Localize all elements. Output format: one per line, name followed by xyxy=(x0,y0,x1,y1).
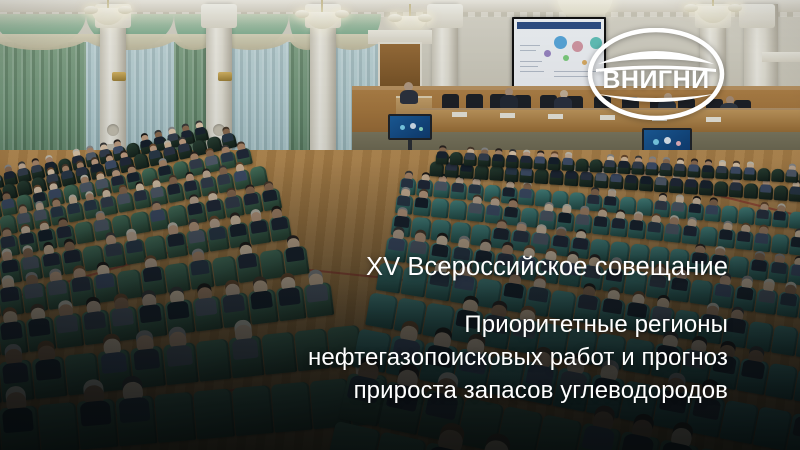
audience-torso xyxy=(771,262,787,275)
audience-seat xyxy=(477,153,491,167)
audience-seat xyxy=(463,152,477,166)
audience-torso xyxy=(154,136,165,145)
audience-seat xyxy=(681,224,700,245)
audience-torso xyxy=(612,218,626,229)
audience-seat xyxy=(765,363,798,400)
audience-torso xyxy=(184,180,198,192)
audience-seat xyxy=(38,402,80,450)
audience-torso xyxy=(206,199,222,212)
audience-seat xyxy=(687,164,701,178)
audience-seat xyxy=(701,165,715,179)
audience-seat xyxy=(771,325,799,356)
audience-seat xyxy=(186,201,207,225)
audience-torso xyxy=(533,232,549,245)
audience-torso xyxy=(633,161,643,169)
audience-seat xyxy=(248,218,272,245)
audience-torso xyxy=(243,192,259,205)
audience-torso xyxy=(163,146,176,156)
audience-seat xyxy=(757,168,771,182)
audience-seat xyxy=(788,186,800,202)
audience-torso xyxy=(150,209,166,222)
audience-torso xyxy=(736,286,754,300)
audience-seat xyxy=(669,178,684,194)
audience-torso xyxy=(519,188,532,198)
audience-torso xyxy=(117,193,131,205)
audience-torso xyxy=(716,166,726,174)
audience-torso xyxy=(756,209,769,219)
audience-seat xyxy=(519,155,533,169)
audience-torso xyxy=(685,179,697,188)
audience-torso xyxy=(594,216,608,227)
audience-torso xyxy=(647,162,657,170)
audience-torso xyxy=(31,164,42,173)
audience-torso xyxy=(220,152,234,163)
audience-torso xyxy=(580,172,592,181)
audience-torso xyxy=(726,317,747,334)
audience-torso xyxy=(540,210,554,221)
audience-seat xyxy=(673,163,687,177)
audience-torso xyxy=(493,154,503,162)
audience-seat xyxy=(206,225,230,252)
audience-torso xyxy=(479,153,489,161)
audience-torso xyxy=(493,228,509,241)
audience-seat xyxy=(684,179,699,195)
audience-seat xyxy=(518,187,535,205)
audience-torso xyxy=(507,155,517,163)
audience-seat xyxy=(610,217,629,238)
audience-torso xyxy=(217,173,231,185)
audience-torso xyxy=(83,199,97,211)
audience-seat xyxy=(149,207,170,231)
audience-torso xyxy=(24,283,44,299)
audience-seat xyxy=(755,208,772,226)
audience-seat xyxy=(789,211,800,229)
audience-torso xyxy=(90,163,103,173)
audience-seat xyxy=(450,152,464,166)
audience-torso xyxy=(604,196,617,206)
audience-torso xyxy=(549,157,559,165)
audience-seat xyxy=(467,202,486,223)
audience-seat xyxy=(166,181,185,203)
audience-torso xyxy=(48,188,62,199)
audience-seat xyxy=(789,235,800,256)
audience-seat xyxy=(74,221,95,245)
audience-torso xyxy=(401,178,414,188)
audience-torso xyxy=(689,203,702,213)
audience-torso xyxy=(50,206,64,218)
audience-torso xyxy=(262,189,278,202)
audience-torso xyxy=(553,235,569,248)
audience-seat xyxy=(729,182,744,198)
audience-seat xyxy=(242,191,263,215)
audience-seat xyxy=(659,163,673,177)
audience-torso xyxy=(19,232,35,245)
audience-torso xyxy=(558,212,572,223)
audience-torso xyxy=(791,264,800,277)
audience-torso xyxy=(167,183,181,195)
audience-torso xyxy=(700,180,712,189)
audience-seat xyxy=(167,204,188,228)
audience-torso xyxy=(655,200,668,210)
audience-seat xyxy=(450,181,467,199)
audience-torso xyxy=(0,174,1,183)
vnigni-logo: ВНИГНИ xyxy=(586,28,726,120)
audience-seat xyxy=(774,185,789,201)
audience-seat xyxy=(575,158,589,172)
audience-torso xyxy=(100,196,114,208)
audience-seat xyxy=(269,215,293,242)
audience-seat xyxy=(579,171,594,187)
audience-torso xyxy=(0,286,20,302)
audience-torso xyxy=(250,220,268,234)
audience-torso xyxy=(67,202,81,214)
audience-seat xyxy=(728,256,749,279)
audience-seat xyxy=(431,198,450,219)
audience-torso xyxy=(236,148,250,159)
audience-seat xyxy=(639,176,654,192)
audience-seat xyxy=(771,234,790,255)
audience-torso xyxy=(790,186,800,195)
audience-seat xyxy=(491,154,505,168)
audience-seat xyxy=(645,162,659,176)
audience-torso xyxy=(715,283,733,297)
audience-seat xyxy=(746,321,774,352)
audience-torso xyxy=(187,202,203,215)
audience-seat xyxy=(261,188,282,212)
audience-torso xyxy=(37,229,53,242)
audience-torso xyxy=(503,282,524,299)
audience-torso xyxy=(755,233,769,244)
audience-torso xyxy=(640,176,652,185)
audience-torso xyxy=(167,233,185,247)
audience-torso xyxy=(683,225,697,236)
subtitle-line-1: Приоритетные регионы xyxy=(0,308,728,341)
audience-torso xyxy=(200,177,214,189)
audience-torso xyxy=(744,167,754,175)
audience-torso xyxy=(208,226,226,240)
audience-seat xyxy=(733,285,757,312)
audience-torso xyxy=(465,153,475,161)
audience-seat xyxy=(489,165,504,181)
audience-torso xyxy=(79,181,93,192)
audience-torso xyxy=(33,209,47,221)
audience-torso xyxy=(105,159,118,169)
audience-torso xyxy=(181,130,192,139)
audience-torso xyxy=(773,211,786,221)
audience-torso xyxy=(61,170,74,180)
audience-torso xyxy=(56,225,72,238)
audience-torso xyxy=(17,212,31,224)
audience-torso xyxy=(486,205,500,216)
conference-banner: ВНИГНИ XV Всероссийское совещание Приори… xyxy=(0,0,800,450)
audience-torso xyxy=(225,196,241,209)
banner-title-block: XV Всероссийское совещание xyxy=(0,252,728,283)
audience-seat xyxy=(759,184,774,200)
banner-subtitle-block: Приоритетные регионы нефтегазопоисковых … xyxy=(0,308,728,407)
audience-torso xyxy=(780,292,798,306)
audience-seat xyxy=(736,358,769,395)
audience-seat xyxy=(753,232,772,253)
audience-torso xyxy=(730,182,742,191)
audience-torso xyxy=(0,235,16,248)
audience-torso xyxy=(3,171,14,180)
audience-torso xyxy=(630,220,644,231)
audience-torso xyxy=(504,206,518,217)
audience-seat xyxy=(519,167,534,183)
page-title: XV Всероссийское совещание xyxy=(0,252,728,283)
audience-torso xyxy=(278,287,301,306)
audience-torso xyxy=(688,164,698,172)
audience-seat xyxy=(743,167,757,181)
audience-torso xyxy=(670,178,682,187)
audience-seat xyxy=(771,169,785,183)
subtitle-line-2: нефтегазопоисковых работ и прогноз xyxy=(0,341,728,374)
audience-seat xyxy=(547,157,561,171)
audience-seat xyxy=(413,196,432,217)
audience-seat xyxy=(564,170,579,186)
audience-torso xyxy=(435,181,448,191)
audience-seat xyxy=(744,183,759,199)
audience-torso xyxy=(119,156,132,166)
audience-seat xyxy=(715,166,729,180)
audience-seat xyxy=(617,161,631,175)
audience-torso xyxy=(791,237,800,248)
audience-torso xyxy=(271,216,289,230)
audience-seat xyxy=(721,205,738,223)
subtitle-line-3: прироста запасов углеводородов xyxy=(0,374,728,407)
audience-torso xyxy=(437,151,447,159)
audience-torso xyxy=(587,194,600,204)
audience-seat xyxy=(785,169,799,183)
audience-seat xyxy=(699,226,718,247)
audience-seat xyxy=(788,263,800,286)
audience-torso xyxy=(415,197,429,208)
audience-torso xyxy=(760,184,772,193)
logo-top-arc xyxy=(598,51,714,64)
audience-seat xyxy=(755,288,779,315)
audience-seat xyxy=(505,155,519,169)
audience-torso xyxy=(665,223,679,234)
audience-seat xyxy=(534,168,549,184)
audience-torso xyxy=(94,219,110,232)
audience-torso xyxy=(502,187,515,197)
audience-torso xyxy=(306,283,329,302)
audience-torso xyxy=(566,171,578,180)
audience-seat xyxy=(735,230,754,251)
audience-seat xyxy=(646,220,665,241)
audience-torso xyxy=(535,156,545,164)
audience-seat xyxy=(699,180,714,196)
audience-torso xyxy=(625,175,637,184)
audience-seat xyxy=(433,180,450,198)
audience-seat xyxy=(561,158,575,172)
audience-seat xyxy=(628,219,647,240)
audience-torso xyxy=(234,170,248,182)
audience-seat xyxy=(533,156,547,170)
audience-torso xyxy=(148,149,161,159)
audience-torso xyxy=(661,163,671,171)
audience-torso xyxy=(189,158,203,169)
audience-torso xyxy=(469,184,482,194)
audience-torso xyxy=(619,161,629,169)
audience-torso xyxy=(397,195,411,206)
audience-seat xyxy=(654,177,669,193)
audience-torso xyxy=(2,407,34,434)
audience-seat xyxy=(609,174,624,190)
logo-bottom-arc xyxy=(598,94,714,102)
audience-seat xyxy=(717,228,736,249)
audience-torso xyxy=(194,126,205,135)
audience-seat xyxy=(687,202,704,220)
audience-torso xyxy=(758,289,776,303)
audience-seat xyxy=(776,291,800,318)
audience-seat xyxy=(0,405,41,450)
audience-torso xyxy=(730,166,740,174)
audience-seat xyxy=(116,191,135,213)
audience-torso xyxy=(178,143,191,153)
audience-torso xyxy=(418,180,431,190)
audience-seat xyxy=(574,213,593,234)
audience-seat xyxy=(594,173,609,189)
audience-torso xyxy=(229,223,247,237)
audience-seat xyxy=(631,161,645,175)
audience-torso xyxy=(513,230,529,243)
audience-torso xyxy=(221,132,234,142)
audience-torso xyxy=(1,198,15,209)
audience-torso xyxy=(452,183,465,193)
audience-torso xyxy=(150,186,164,198)
audience-torso xyxy=(134,189,148,201)
audience-torso xyxy=(95,178,109,189)
audience-torso xyxy=(595,173,607,182)
audience-torso xyxy=(792,415,800,440)
audience-torso xyxy=(75,166,88,176)
audience-seat xyxy=(772,210,789,228)
audience-torso xyxy=(751,259,767,272)
audience-seat xyxy=(603,160,617,174)
audience-torso xyxy=(521,155,531,163)
audience-torso xyxy=(719,229,733,240)
audience-seat xyxy=(436,151,450,165)
audience-seat xyxy=(624,175,639,191)
audience-torso xyxy=(388,237,406,251)
audience-seat xyxy=(711,282,735,309)
audience-seat xyxy=(589,159,603,173)
audience-torso xyxy=(576,214,590,225)
audience-torso xyxy=(167,133,178,142)
audience-torso xyxy=(205,155,219,166)
audience-seat xyxy=(738,207,755,225)
audience-seat xyxy=(592,215,611,236)
audience-torso xyxy=(468,203,482,214)
audience-torso xyxy=(563,158,573,166)
audience-torso xyxy=(706,205,719,215)
audience-torso xyxy=(702,165,712,173)
audience-torso xyxy=(551,169,563,178)
audience-seat xyxy=(664,222,683,243)
audience-torso xyxy=(655,177,667,186)
logo-wordmark: ВНИГНИ xyxy=(602,66,709,94)
audience-seat xyxy=(132,188,151,210)
audience-torso xyxy=(741,359,766,380)
audience-torso xyxy=(32,191,46,202)
audience-torso xyxy=(786,169,796,177)
audience-seat xyxy=(549,169,564,185)
audience-torso xyxy=(528,286,549,303)
audience-torso xyxy=(647,221,661,232)
audience-seat xyxy=(768,260,789,283)
audience-torso xyxy=(17,167,28,176)
audience-seat xyxy=(704,204,721,222)
audience-torso xyxy=(250,290,273,309)
audience-torso xyxy=(675,164,685,172)
audience-torso xyxy=(111,175,125,186)
audience-torso xyxy=(672,202,685,212)
audience-torso xyxy=(605,160,615,168)
audience-seat xyxy=(66,201,85,223)
audience-torso xyxy=(737,231,751,242)
audience-torso xyxy=(158,165,172,176)
audience-torso xyxy=(46,173,59,183)
audience-torso xyxy=(394,215,410,228)
audience-torso xyxy=(572,237,588,250)
audience-seat xyxy=(449,200,468,221)
audience-seat xyxy=(748,258,769,281)
audience-torso xyxy=(188,229,206,243)
audience-torso xyxy=(610,174,622,183)
audience-seat xyxy=(504,166,519,182)
audience-seat xyxy=(714,181,729,197)
audience-seat xyxy=(729,166,743,180)
audience-torso xyxy=(126,172,140,183)
